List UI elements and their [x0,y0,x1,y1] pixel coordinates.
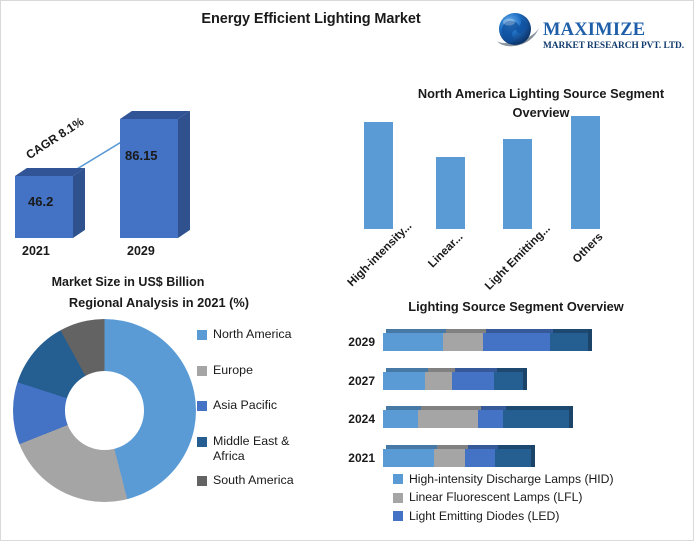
stacked-legend-item-lfl: Linear Fluorescent Lamps (LFL) [393,489,614,505]
regional-analysis-title: Regional Analysis in 2021 (%) [9,295,309,310]
stack-seg-others [503,410,569,428]
na-label-1: Linear... [423,231,465,273]
column-side-face [178,111,190,238]
na-label-3: Others [566,231,606,271]
legend-swatch-icon [197,401,207,411]
stack-seg-led [483,333,550,351]
column-value-2021: 46.2 [28,194,53,209]
column-front-face [120,119,178,238]
stack-seg-hid [383,410,418,428]
legend-swatch-icon [197,366,207,376]
column-category-2029: 2029 [127,244,155,258]
market-size-chart: CAGR 8.1% 46.2 2021 86.15 2029 Market Si… [1,86,331,286]
stack-seg-hid [383,333,443,351]
legend-swatch-icon [197,437,207,447]
na-label-0: High-intensity... [346,231,404,289]
stacked-legend: High-intensity Discharge Lamps (HID) Lin… [393,471,614,526]
stack-ylabel-2024: 2024 [331,412,375,426]
north-america-chart-title: North America Lighting Source Segment Ov… [391,85,691,122]
stack-seg-others [495,449,531,467]
stack-seg-others [550,333,588,351]
stack-seg-lfl [443,333,483,351]
infographic-page: Energy Efficient Lighting Market MA [0,0,694,541]
north-america-chart: North America Lighting Source Segment Ov… [331,81,694,291]
column-side-face [73,168,85,238]
regional-analysis-chart: Regional Analysis in 2021 (%) North Amer… [1,291,331,541]
stack-seg-others [494,372,523,390]
column-value-2029: 86.15 [125,148,158,163]
legend-label: High-intensity Discharge Lamps (HID) [409,471,614,487]
stacked-legend-item-hid: High-intensity Discharge Lamps (HID) [393,471,614,487]
legend-swatch-icon [393,493,403,503]
stack-ylabel-2021: 2021 [331,451,375,465]
legend-label: Light Emitting Diodes (LED) [409,508,559,524]
page-title: Energy Efficient Lighting Market [141,11,481,27]
company-logo: MAXIMIZE MARKET RESEARCH PVT. LTD. [493,9,693,57]
stack-seg-lfl [425,372,452,390]
legend-label: Middle East & Africa [213,434,321,465]
legend-label: South America [213,473,294,489]
na-label-2: Light Emitting... [483,231,545,293]
stacked-chart-title: Lighting Source Segment Overview [351,299,681,314]
donut-hole [65,371,144,450]
legend-swatch-icon [393,474,403,484]
lighting-source-stacked-chart: Lighting Source Segment Overview 2029 20… [331,291,694,541]
legend-swatch-icon [197,476,207,486]
stack-seg-hid [383,449,434,467]
stack-seg-lfl [434,449,465,467]
legend-item-asia-pacific: Asia Pacific [197,398,327,414]
na-column-1 [436,157,465,229]
donut-ring [13,319,196,502]
legend-label: Linear Fluorescent Lamps (LFL) [409,489,582,505]
legend-swatch-icon [197,330,207,340]
stack-seg-lfl [418,410,478,428]
stack-ylabel-2027: 2027 [331,374,375,388]
legend-item-europe: Europe [197,363,327,379]
legend-item-middle-east-africa: Middle East & Africa [197,434,327,465]
legend-item-north-america: North America [197,327,327,343]
legend-item-south-america: South America [197,473,327,489]
column-category-2021: 2021 [22,244,50,258]
stack-seg-led [465,449,495,467]
stack-seg-hid [383,372,425,390]
legend-label: Asia Pacific [213,398,277,414]
column-2029 [120,111,178,238]
legend-label: Europe [213,363,253,379]
logo-tagline: MARKET RESEARCH PVT. LTD. [543,41,684,52]
stacked-legend-item-led: Light Emitting Diodes (LED) [393,508,614,524]
na-column-2 [503,139,532,229]
stack-seg-led [452,372,494,390]
na-column-0 [364,122,393,229]
logo-wordmark: MAXIMIZE [543,21,684,40]
market-size-caption: Market Size in US$ Billion [1,275,255,289]
globe-icon [493,9,545,53]
legend-label: North America [213,327,292,343]
legend-swatch-icon [393,511,403,521]
na-column-3 [571,116,600,229]
stack-seg-led [478,410,503,428]
stack-ylabel-2029: 2029 [331,335,375,349]
regional-legend: North America Europe Asia Pacific Middle… [197,327,327,488]
